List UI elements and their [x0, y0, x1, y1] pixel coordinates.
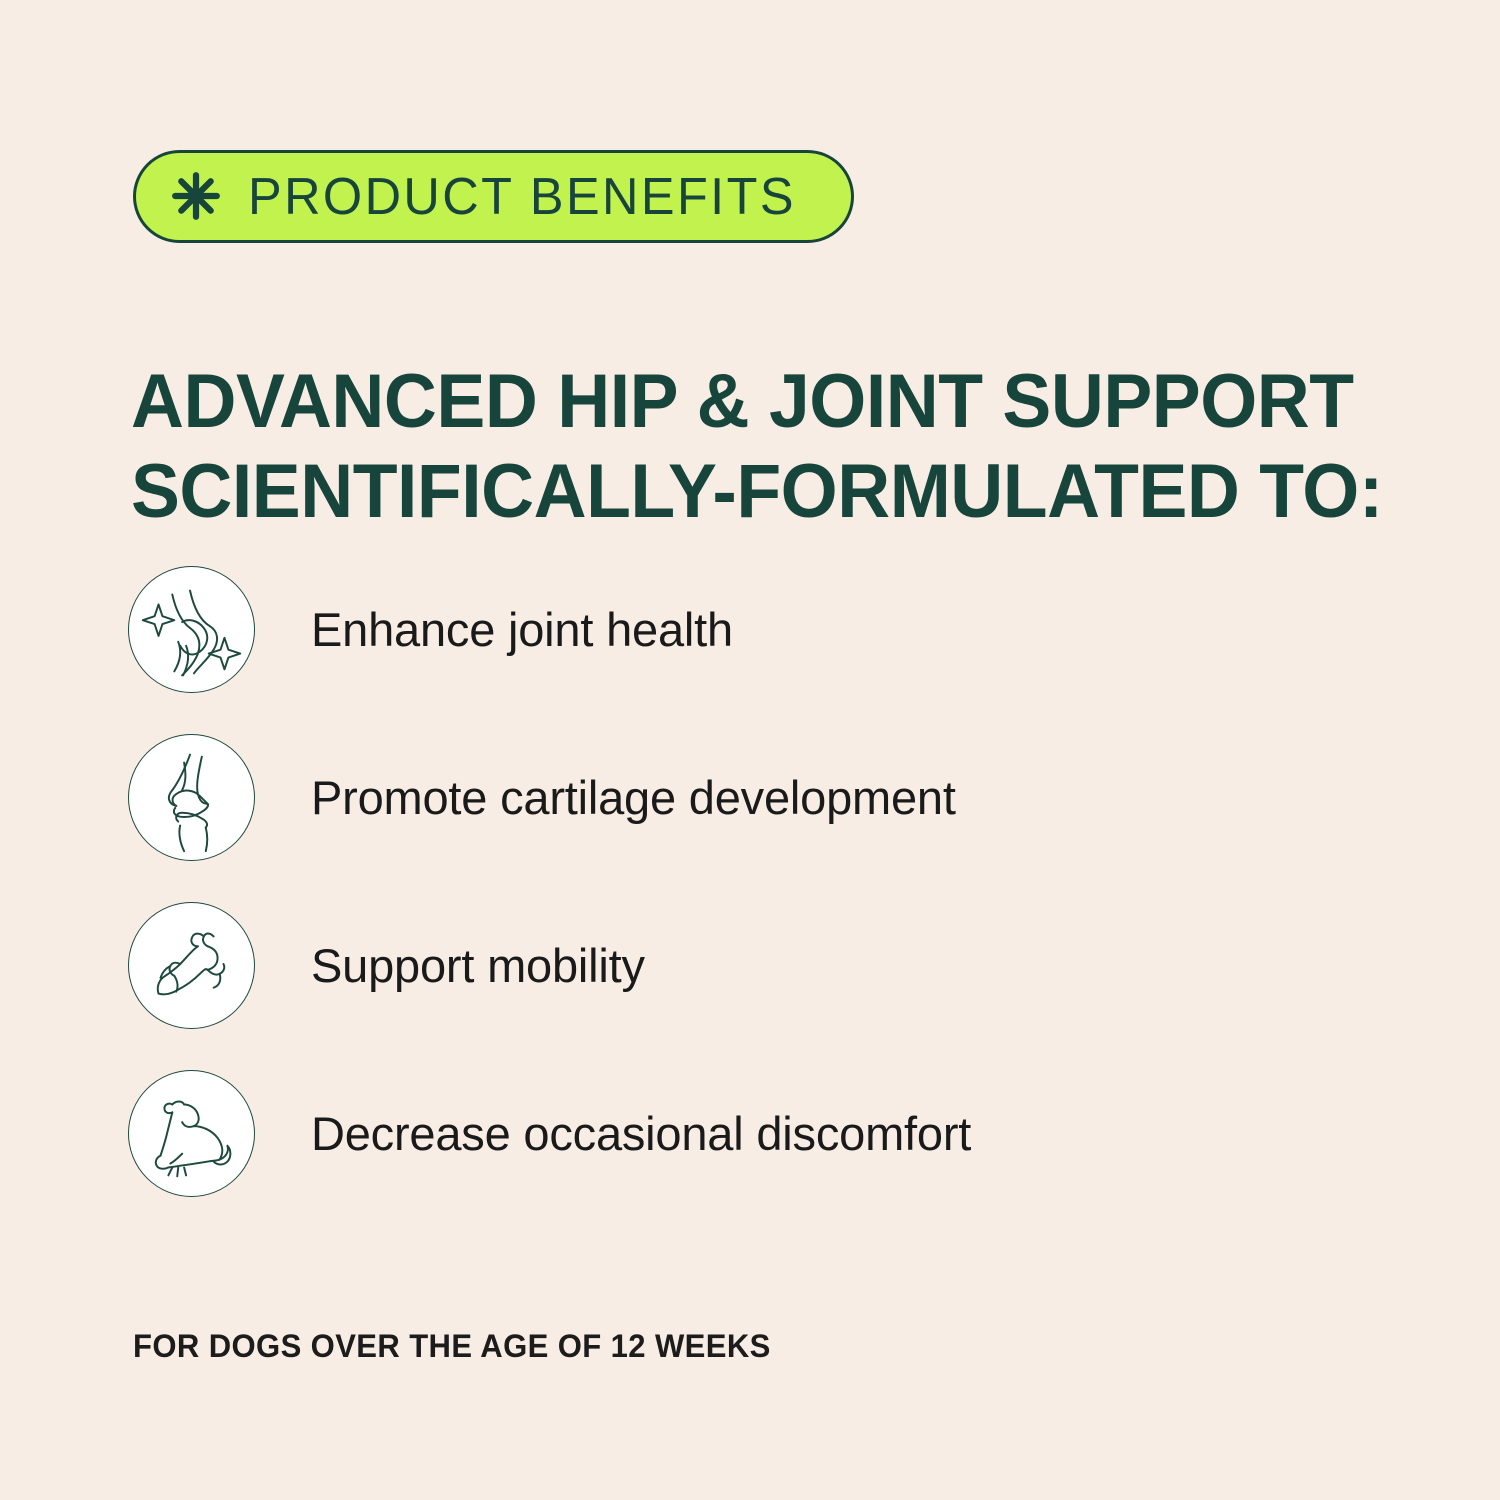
benefit-label: Promote cartilage development [311, 772, 956, 824]
product-benefits-panel: PRODUCT BENEFITS ADVANCED HIP & JOINT SU… [0, 0, 1500, 1500]
list-item: Support mobility [128, 902, 1408, 1029]
list-item: Promote cartilage development [128, 734, 1408, 861]
product-benefits-badge: PRODUCT BENEFITS [133, 150, 854, 243]
knee-joint-sparkle-icon [128, 566, 255, 693]
age-disclaimer: FOR DOGS OVER THE AGE OF 12 WEEKS [133, 1330, 771, 1362]
headline-line-1: ADVANCED HIP & JOINT SUPPORT [131, 357, 1347, 447]
badge-label: PRODUCT BENEFITS [248, 171, 796, 223]
benefit-label: Decrease occasional discomfort [311, 1108, 971, 1160]
leaping-dog-icon [128, 902, 255, 1029]
benefit-label: Support mobility [311, 940, 645, 992]
headline-line-2: SCIENTIFICALLY-FORMULATED TO: [131, 447, 1347, 537]
benefits-list: Enhance joint health Promote cartilage d… [128, 566, 1408, 1197]
page-title: ADVANCED HIP & JOINT SUPPORT SCIENTIFICA… [131, 357, 1391, 537]
list-item: Enhance joint health [128, 566, 1408, 693]
resting-dog-icon [128, 1070, 255, 1197]
list-item: Decrease occasional discomfort [128, 1070, 1408, 1197]
knee-joint-cartilage-icon [128, 734, 255, 861]
asterisk-sparkle-icon [170, 170, 222, 222]
benefit-label: Enhance joint health [311, 604, 733, 656]
